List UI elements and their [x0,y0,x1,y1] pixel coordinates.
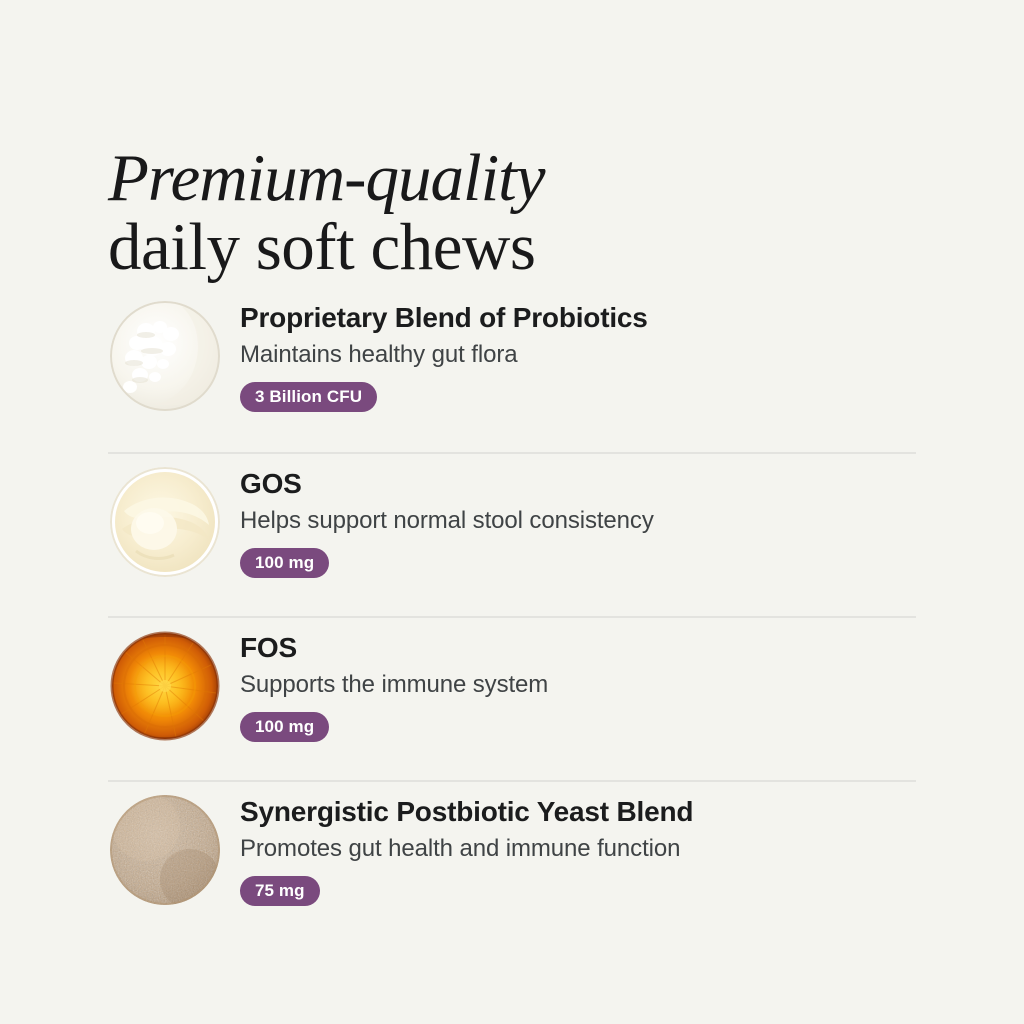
probiotic-cream-photo [110,301,220,411]
list-item: Proprietary Blend of Probiotics Maintain… [108,288,916,452]
ingredient-content: FOS Supports the immune system 100 mg [240,632,916,742]
list-item: GOS Helps support normal stool consisten… [108,452,916,616]
ingredient-subtitle: Supports the immune system [240,670,916,699]
ingredient-subtitle: Promotes gut health and immune function [240,834,916,863]
ingredient-content: GOS Helps support normal stool consisten… [240,468,916,578]
ingredient-subtitle: Maintains healthy gut flora [240,340,916,369]
page-title-line-1: Premium-quality [108,145,928,211]
ingredient-content: Synergistic Postbiotic Yeast Blend Promo… [240,796,916,906]
list-item: FOS Supports the immune system 100 mg [108,616,916,780]
page-title-line-2: daily soft chews [108,214,928,280]
ingredient-title: FOS [240,632,916,664]
dosage-badge: 100 mg [240,712,329,742]
dosage-badge: 75 mg [240,876,320,906]
ingredient-title: Proprietary Blend of Probiotics [240,302,916,334]
product-ingredients-panel: Premium-quality daily soft chews [0,0,1024,1024]
gos-cream-photo [110,467,220,577]
ingredient-title: GOS [240,468,916,500]
fos-chicory-root-slice-photo [110,631,220,741]
list-item: Synergistic Postbiotic Yeast Blend Promo… [108,780,916,944]
dosage-badge: 3 Billion CFU [240,382,377,412]
yeast-powder-photo [110,795,220,905]
ingredient-list: Proprietary Blend of Probiotics Maintain… [108,288,916,944]
dosage-badge: 100 mg [240,548,329,578]
ingredient-title: Synergistic Postbiotic Yeast Blend [240,796,916,828]
ingredient-subtitle: Helps support normal stool consistency [240,506,916,535]
ingredient-content: Proprietary Blend of Probiotics Maintain… [240,302,916,412]
page-title: Premium-quality daily soft chews [108,145,928,281]
